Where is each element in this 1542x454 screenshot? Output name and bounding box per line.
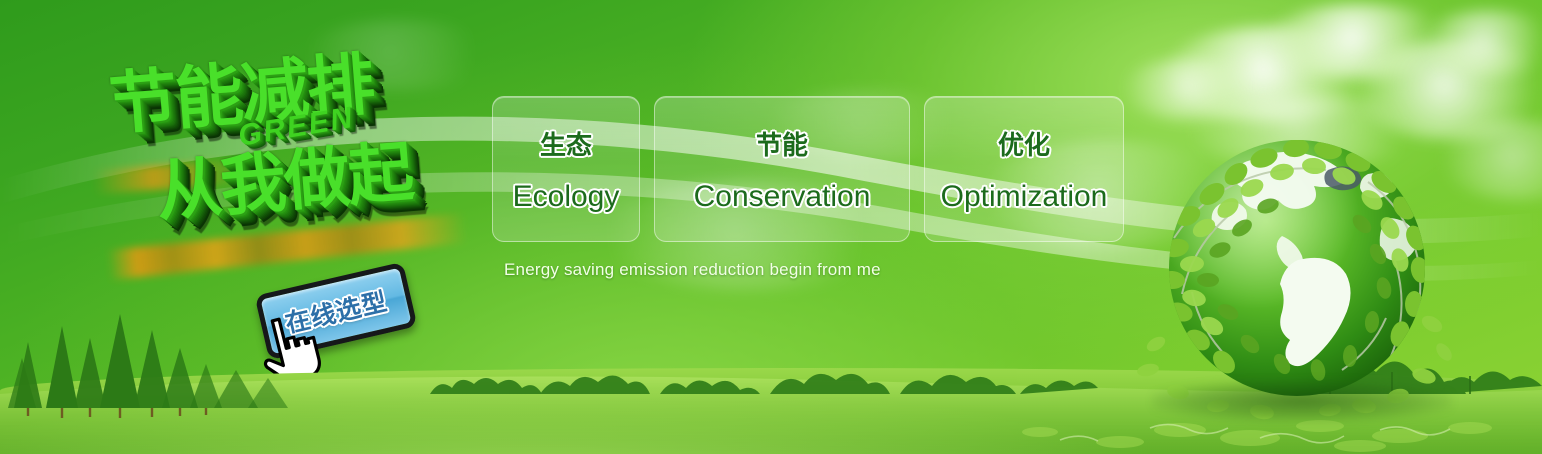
- hero-banner: 节能减排 从我做起 GREEN 生态 Ecology 节能 Conservati…: [0, 0, 1542, 454]
- feature-card-title-en: Ecology: [513, 180, 620, 214]
- feature-card-title-cn: 优化: [998, 125, 1050, 162]
- feature-card-conservation[interactable]: 节能 Conservation: [654, 96, 910, 242]
- feature-card-ecology[interactable]: 生态 Ecology: [492, 96, 640, 242]
- feature-card-title-cn: 生态: [540, 125, 592, 162]
- cloud-icon: [1420, 10, 1542, 76]
- feature-card-group: 生态 Ecology 节能 Conservation 优化 Optimizati…: [492, 96, 1124, 242]
- feature-card-optimization[interactable]: 优化 Optimization: [924, 96, 1124, 242]
- feature-card-title-en: Conservation: [694, 180, 871, 214]
- cloud-icon: [1262, 4, 1462, 78]
- tagline-text: Energy saving emission reduction begin f…: [504, 260, 881, 280]
- globe-shadow: [1152, 380, 1452, 422]
- feature-card-title-en: Optimization: [941, 180, 1108, 214]
- leafy-globe-graphic: [1132, 108, 1462, 438]
- feature-card-title-cn: 节能: [756, 125, 808, 162]
- conifer-tree-group: [0, 308, 320, 418]
- headline-artwork: 节能减排 从我做起 GREEN: [83, 18, 521, 290]
